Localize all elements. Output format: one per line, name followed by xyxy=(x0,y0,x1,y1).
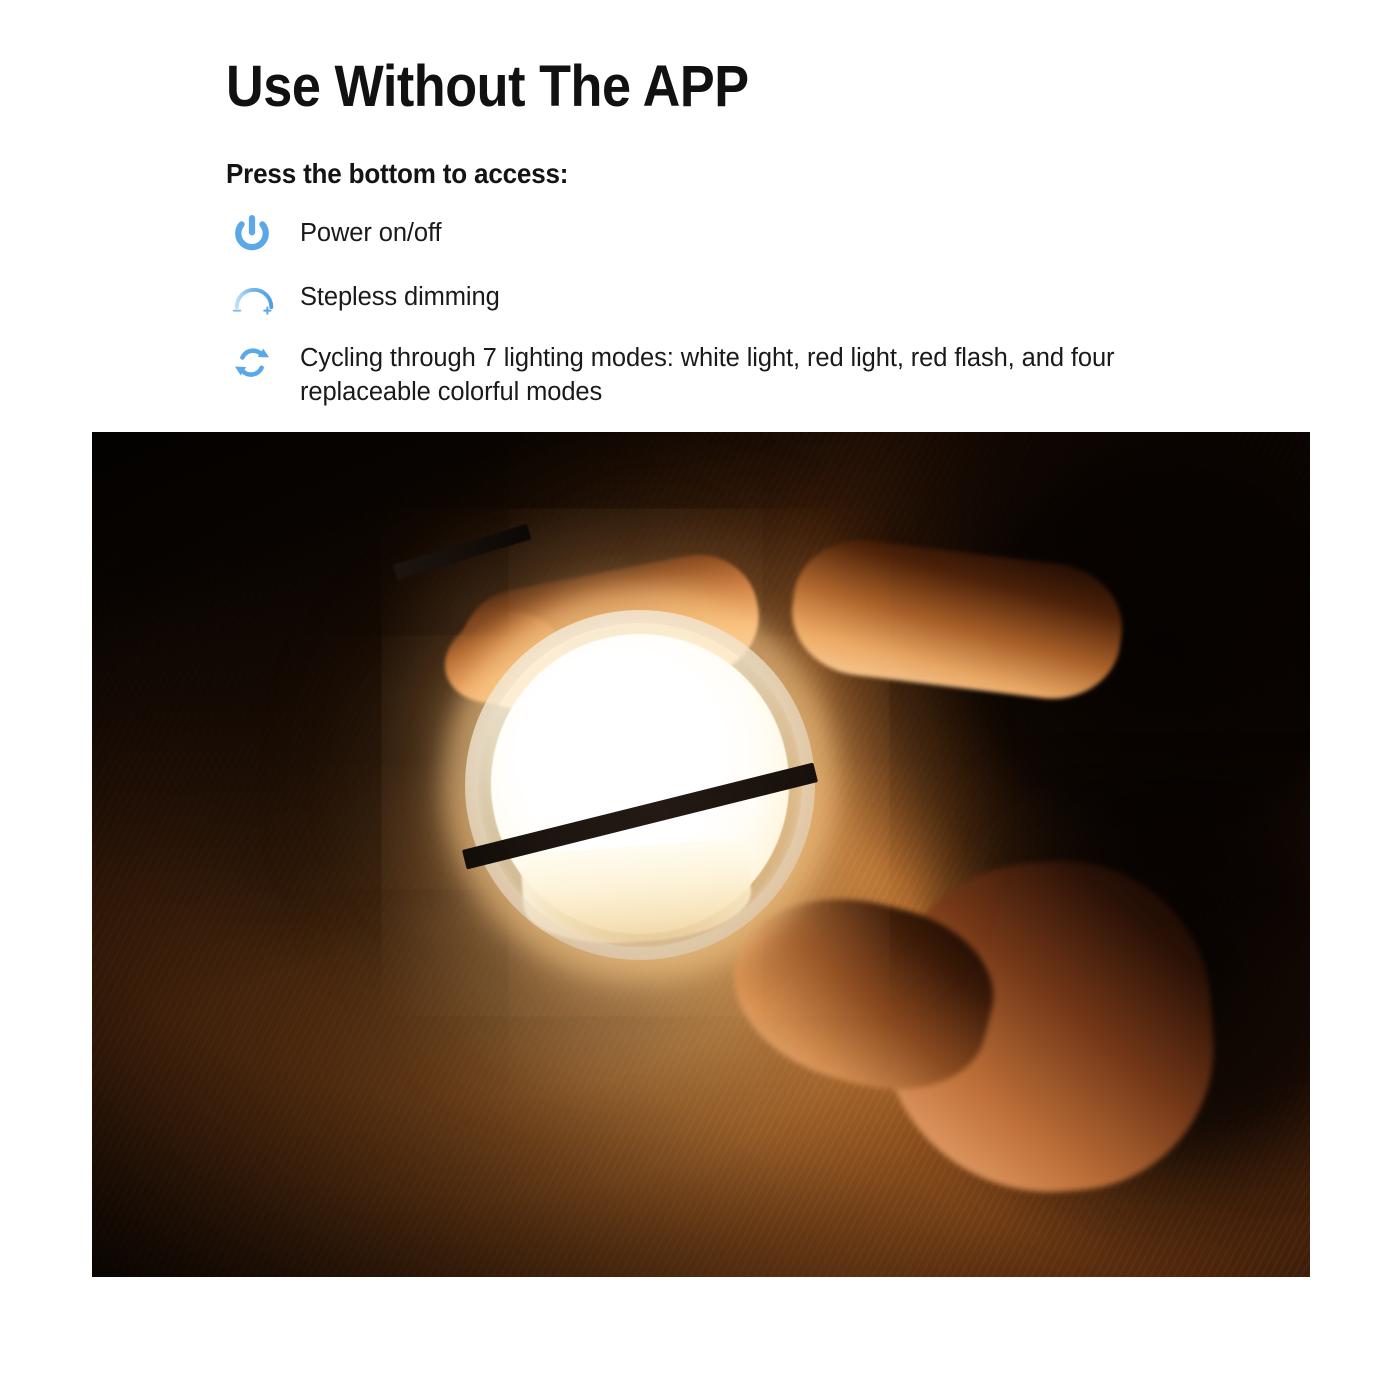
list-item: Power on/off xyxy=(226,212,1246,264)
list-item: Stepless dimming xyxy=(226,276,1246,328)
page-title: Use Without The APP xyxy=(226,57,749,118)
list-item-label: Stepless dimming xyxy=(282,276,1246,315)
lantern-highlight xyxy=(553,662,673,724)
list-item-label: Power on/off xyxy=(282,212,1246,251)
list-item: Cycling through 7 lighting modes: white … xyxy=(226,340,1246,409)
list-item-label: Cycling through 7 lighting modes: white … xyxy=(282,340,1246,409)
feature-list: Power on/off Steples xyxy=(226,212,1246,409)
spherical-lantern xyxy=(465,610,815,960)
power-icon xyxy=(226,212,282,256)
cycle-refresh-icon xyxy=(226,340,282,384)
brightness-dimming-icon xyxy=(226,276,282,320)
section-subtitle: Press the bottom to access: xyxy=(226,158,568,190)
photo-scene xyxy=(92,432,1310,1277)
product-photo xyxy=(92,432,1310,1277)
infographic-page: Use Without The APP Press the bottom to … xyxy=(0,0,1400,1400)
